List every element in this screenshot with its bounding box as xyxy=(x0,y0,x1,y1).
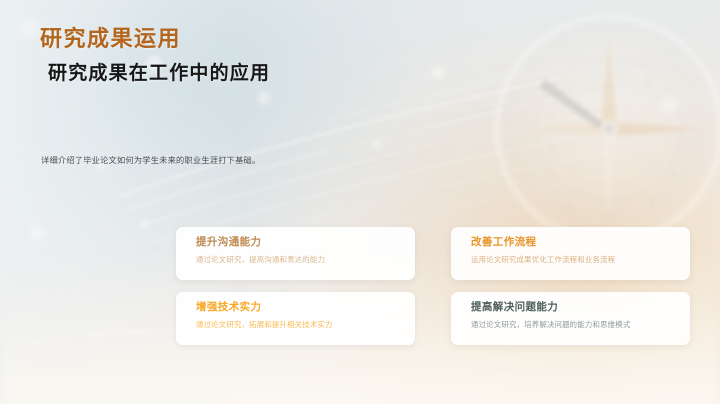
presentation-slide: III 11 3 5 7 2 研究成果运用 研究成果在工作中的应用 详细介绍了毕… xyxy=(0,0,720,404)
page-subtitle: 研究成果在工作中的应用 xyxy=(48,63,470,86)
svg-text:5: 5 xyxy=(670,169,677,182)
benefit-card-grid: 提升沟通能力 通过论文研究，提高沟通和表达的能力 改善工作流程 运用论文研究成果… xyxy=(176,227,690,345)
svg-text:III: III xyxy=(602,209,615,222)
svg-text:11: 11 xyxy=(560,201,574,214)
benefit-card[interactable]: 提升沟通能力 通过论文研究，提高沟通和表达的能力 xyxy=(176,227,415,280)
svg-text:3: 3 xyxy=(648,199,655,212)
card-title: 提高解决问题能力 xyxy=(471,301,690,314)
page-title: 研究成果运用 xyxy=(40,26,470,51)
card-description: 通过论文研究，拓展和提升相关技术实力 xyxy=(196,320,415,330)
compass-icon: III 11 3 5 7 2 xyxy=(493,13,720,245)
card-description: 通过论文研究，培养解决问题的能力和思维模式 xyxy=(471,320,690,330)
card-description: 运用论文研究成果优化工作流程和业务流程 xyxy=(471,255,690,265)
svg-text:7: 7 xyxy=(550,145,557,158)
benefit-card[interactable]: 提高解决问题能力 通过论文研究，培养解决问题的能力和思维模式 xyxy=(451,292,690,345)
card-title: 增强技术实力 xyxy=(196,301,415,314)
benefit-card[interactable]: 改善工作流程 运用论文研究成果优化工作流程和业务流程 xyxy=(451,227,690,280)
card-description: 通过论文研究，提高沟通和表达的能力 xyxy=(196,255,415,265)
card-title: 提升沟通能力 xyxy=(196,236,415,249)
svg-text:2: 2 xyxy=(646,73,653,86)
card-title: 改善工作流程 xyxy=(471,236,690,249)
benefit-card[interactable]: 增强技术实力 通过论文研究，拓展和提升相关技术实力 xyxy=(176,292,415,345)
slide-heading-group: 研究成果运用 研究成果在工作中的应用 xyxy=(40,26,470,86)
lead-paragraph: 详细介绍了毕业论文如何为学生未来的职业生涯打下基础。 xyxy=(41,153,263,168)
